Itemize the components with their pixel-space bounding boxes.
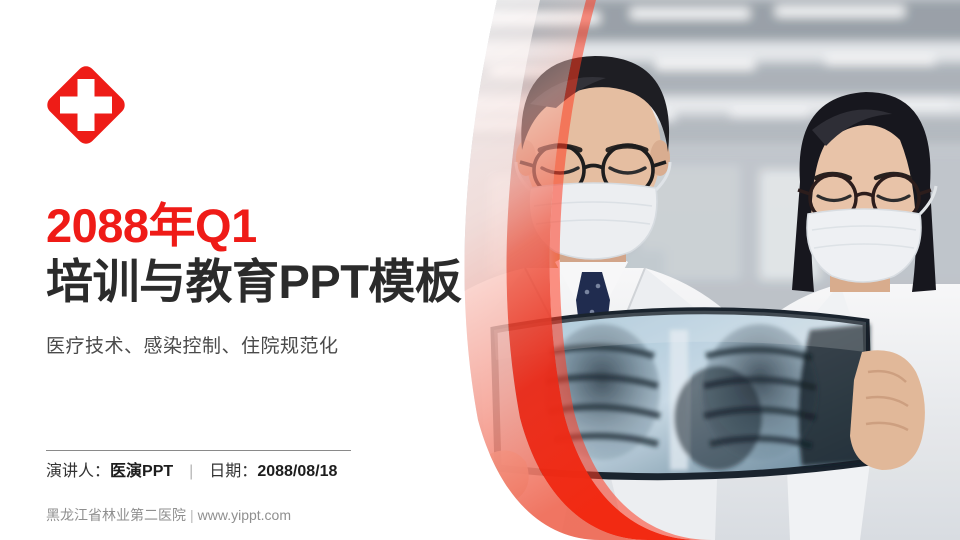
footer-divider: | <box>190 507 194 523</box>
medical-cross-diamond-icon <box>43 62 129 148</box>
organization-name: 黑龙江省林业第二医院 <box>46 507 186 523</box>
title-line-main: 培训与教育PPT模板 <box>46 254 516 310</box>
presenter-value: 医演PPT <box>110 463 173 480</box>
website-url: www.yippt.com <box>198 507 291 523</box>
title-line-year: 2088年Q1 <box>46 198 516 254</box>
presenter-label: 演讲人： <box>46 463 110 480</box>
hospital-logo <box>43 62 129 148</box>
date-value: 2088/08/18 <box>257 463 337 480</box>
page-title: 2088年Q1 培训与教育PPT模板 <box>46 198 516 310</box>
presentation-cover-slide: 2088年Q1 培训与教育PPT模板 医疗技术、感染控制、住院规范化 演讲人：医… <box>0 0 960 540</box>
presenter-meta: 演讲人：医演PPT|日期：2088/08/18 <box>46 460 337 484</box>
meta-divider-line <box>46 450 351 451</box>
subtitle: 医疗技术、感染控制、住院规范化 <box>46 334 339 360</box>
meta-separator: | <box>189 460 193 484</box>
cover-text-panel: 2088年Q1 培训与教育PPT模板 医疗技术、感染控制、住院规范化 演讲人：医… <box>0 0 440 540</box>
date-label: 日期： <box>209 463 257 480</box>
footer-credit: 黑龙江省林业第二医院|www.yippt.com <box>46 505 291 525</box>
